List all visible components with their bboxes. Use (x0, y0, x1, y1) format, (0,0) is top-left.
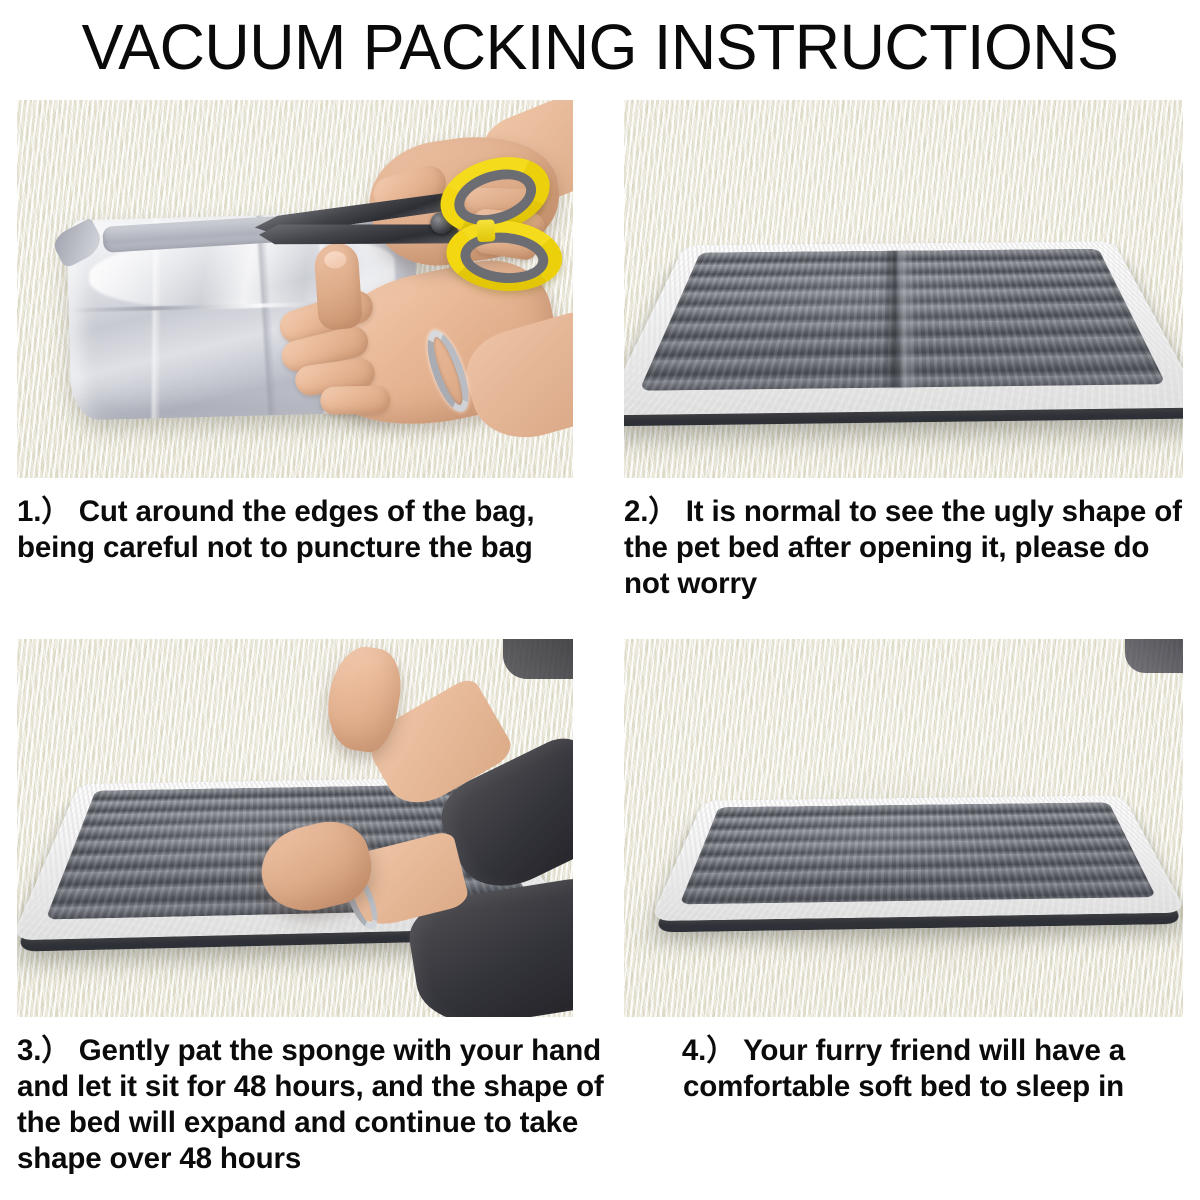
step-3: 3.） Gently pat the sponge with your hand… (17, 639, 573, 1177)
caption-line: being careful not to puncture the bag (17, 530, 573, 566)
caption-line: shape over 48 hours (17, 1141, 573, 1177)
caption-line: the pet bed after opening it, please do (624, 530, 1183, 566)
steps-grid: 1.） Cut around the edges of the bag, bei… (0, 96, 1200, 1200)
dark-background-corner (1125, 639, 1183, 673)
bed-ribbed-texture (680, 802, 1157, 904)
step-1: 1.） Cut around the edges of the bag, bei… (17, 100, 573, 566)
step-3-photo (17, 639, 573, 1017)
caption-line: 3.） Gently pat the sponge with your hand (17, 1033, 573, 1069)
caption-line: and let it sit for 48 hours, and the sha… (17, 1069, 573, 1105)
step-1-caption: 1.） Cut around the edges of the bag, bei… (17, 494, 573, 566)
scissors-latch (476, 219, 495, 242)
page-title: VACUUM PACKING INSTRUCTIONS (12, 12, 1188, 82)
step-2-caption: 2.） It is normal to see the ugly shape o… (624, 494, 1183, 602)
caption-line: the bed will expand and continue to take (17, 1105, 573, 1141)
caption-line: 2.） It is normal to see the ugly shape o… (624, 494, 1183, 530)
scissors-blade-lower (259, 224, 459, 244)
caption-line: comfortable soft bed to sleep in (624, 1069, 1183, 1105)
step-3-caption: 3.） Gently pat the sponge with your hand… (17, 1033, 573, 1177)
step-1-photo (17, 100, 573, 478)
step-4-photo (624, 639, 1183, 1017)
caption-line: 4.） Your furry friend will have a (624, 1033, 1183, 1069)
finger (320, 386, 390, 415)
step-4-caption: 4.） Your furry friend will have a comfor… (624, 1033, 1183, 1105)
step-4: 4.） Your furry friend will have a comfor… (624, 639, 1183, 1105)
scissors-icon (252, 158, 559, 310)
step-2-photo (624, 100, 1183, 478)
pet-bed-buckled (624, 237, 1183, 421)
caption-line: not worry (624, 566, 1183, 602)
step-2: 2.） It is normal to see the ugly shape o… (624, 100, 1183, 602)
pet-bed-expanded (649, 793, 1183, 923)
caption-line: 1.） Cut around the edges of the bag, (17, 494, 573, 530)
dark-background-corner (503, 639, 573, 679)
bed-grey-cushion (680, 802, 1157, 904)
